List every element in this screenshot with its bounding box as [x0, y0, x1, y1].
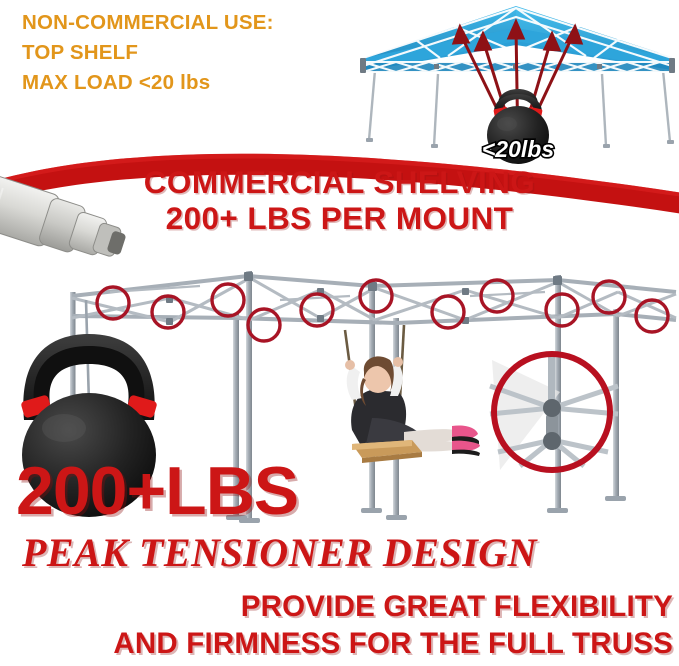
benefit-line-2: AND FIRMNESS FOR THE FULL TRUSS — [113, 627, 673, 661]
headline-block: COMMERCIAL SHELVING 200+ LBS PER MOUNT — [0, 164, 679, 236]
benefit-line-1: PROVIDE GREAT FLEXIBILITY — [241, 590, 673, 624]
heavy-load-callout: 200+LBS — [16, 457, 298, 525]
warning-line-1: NON-COMMERCIAL USE: — [22, 8, 274, 38]
non-commercial-warning: NON-COMMERCIAL USE: TOP SHELF MAX LOAD <… — [22, 8, 274, 98]
infographic-canvas: <20lbs — [0, 0, 679, 666]
tensioner-upper-hub — [543, 399, 561, 417]
headline-line-1: COMMERCIAL SHELVING — [0, 164, 679, 200]
peak-tensioner-design-title: PEAK TENSIONER DESIGN — [22, 529, 537, 576]
warning-line-2: TOP SHELF — [22, 38, 274, 68]
tensioner-lower-hub — [543, 432, 561, 450]
warning-line-3: MAX LOAD <20 lbs — [22, 68, 274, 98]
headline-line-2: 200+ LBS PER MOUNT — [0, 200, 679, 236]
